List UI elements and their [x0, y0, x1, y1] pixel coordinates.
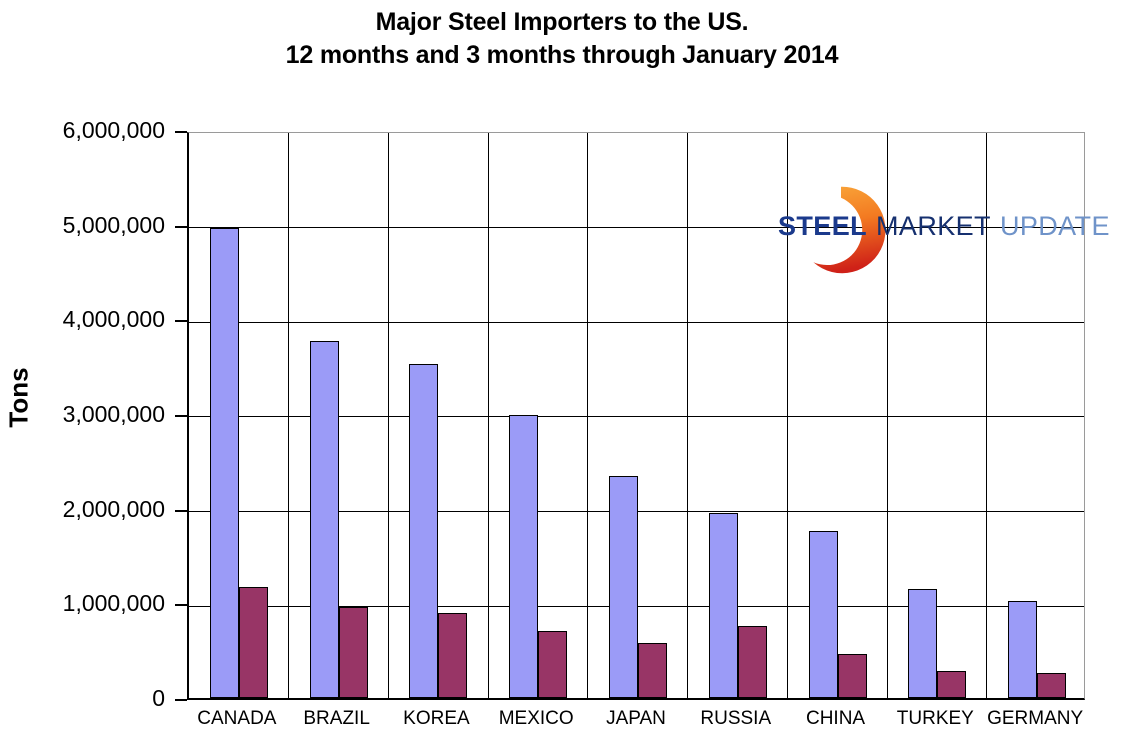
y-axis-tick-label: 6,000,000 [0, 117, 165, 144]
gridline-vertical [887, 133, 888, 698]
bar-mexico-series-1 [509, 415, 538, 698]
gridline-vertical [388, 133, 389, 698]
y-axis-tick-label: 2,000,000 [0, 496, 165, 523]
bar-germany-series-2 [1037, 673, 1066, 698]
y-axis-tick-label: 3,000,000 [0, 401, 165, 428]
bar-china-series-2 [838, 654, 867, 698]
x-axis-label-korea: KOREA [387, 708, 487, 730]
bar-canada-series-2 [239, 587, 268, 698]
x-axis-label-russia: RUSSIA [686, 708, 786, 730]
x-axis-label-germany: GERMANY [985, 708, 1085, 730]
y-axis-tick-label: 5,000,000 [0, 212, 165, 239]
bar-brazil-series-2 [339, 607, 368, 698]
y-axis-tick-label: 1,000,000 [0, 590, 165, 617]
y-axis-title: Tons [4, 343, 35, 453]
bar-korea-series-1 [409, 364, 438, 698]
gridline-vertical [986, 133, 987, 698]
bar-turkey-series-2 [937, 671, 966, 698]
chart-title-line-1: Major Steel Importers to the US. [0, 6, 1124, 39]
y-axis-tick-label: 0 [0, 685, 165, 712]
y-axis-tick-mark [175, 604, 187, 606]
y-axis-tick-label: 4,000,000 [0, 306, 165, 333]
plot-area [187, 132, 1085, 700]
bar-brazil-series-1 [310, 341, 339, 698]
x-axis-label-mexico: MEXICO [486, 708, 586, 730]
bar-russia-series-2 [738, 626, 767, 698]
x-axis-label-japan: JAPAN [586, 708, 686, 730]
chart-title: Major Steel Importers to the US. 12 mont… [0, 6, 1124, 72]
x-axis-label-china: CHINA [786, 708, 886, 730]
y-axis-tick-mark [175, 699, 187, 701]
gridline-vertical [488, 133, 489, 698]
gridline-vertical [687, 133, 688, 698]
x-axis-label-canada: CANADA [187, 708, 287, 730]
y-axis-tick-mark [175, 131, 187, 133]
bar-japan-series-1 [609, 476, 638, 698]
bar-japan-series-2 [638, 643, 667, 698]
gridline-vertical [288, 133, 289, 698]
bar-germany-series-1 [1008, 601, 1037, 698]
gridline-vertical [587, 133, 588, 698]
chart-title-line-2: 12 months and 3 months through January 2… [0, 39, 1124, 72]
y-axis-tick-mark [175, 510, 187, 512]
bar-mexico-series-2 [538, 631, 567, 698]
x-axis-label-turkey: TURKEY [885, 708, 985, 730]
x-axis-label-brazil: BRAZIL [287, 708, 387, 730]
gridline-horizontal [189, 322, 1084, 323]
gridline-horizontal [189, 227, 1084, 228]
gridline-vertical [787, 133, 788, 698]
bar-korea-series-2 [438, 613, 467, 698]
y-axis-tick-mark [175, 320, 187, 322]
y-axis-tick-mark [175, 226, 187, 228]
bar-turkey-series-1 [908, 589, 937, 698]
bar-russia-series-1 [709, 513, 738, 698]
y-axis-tick-mark [175, 415, 187, 417]
bar-china-series-1 [809, 531, 838, 698]
bar-canada-series-1 [210, 228, 239, 698]
